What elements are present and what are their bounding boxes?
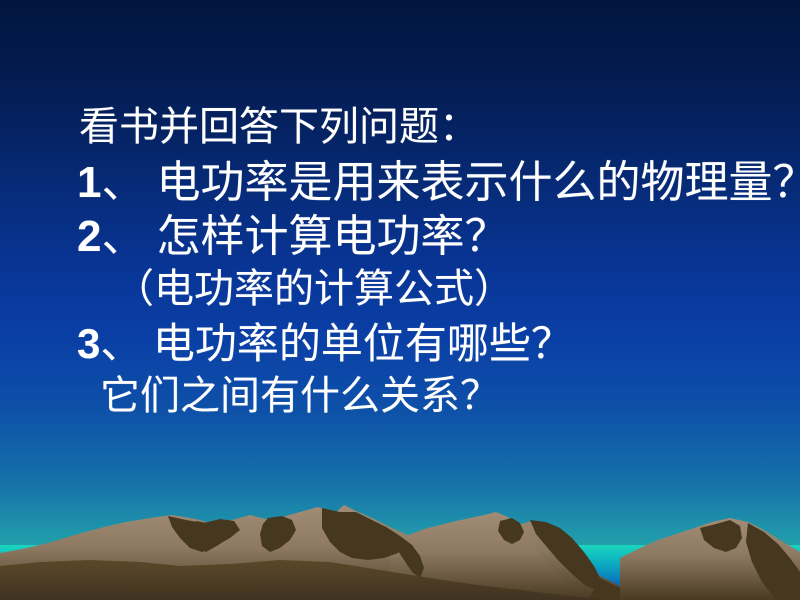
question-text-1: 、 电功率是用来表示什么的物理量？: [101, 158, 800, 207]
question-text-3: 、 电功率的单位有哪些？: [100, 322, 573, 368]
question-note-3: 它们之间有什么关系？: [100, 373, 500, 419]
question-text-2: 、 怎样计算电功率？: [101, 212, 508, 261]
question-number-2: 2: [77, 212, 101, 261]
question-line-2: 2、 怎样计算电功率？: [77, 212, 508, 262]
slide-canvas: 看书并回答下列问题： 1、 电功率是用来表示什么的物理量？ 2、 怎样计算电功率…: [0, 0, 800, 600]
question-number-3: 3: [77, 320, 100, 367]
question-number-1: 1: [77, 158, 101, 207]
question-note-2: （电功率的计算公式）: [114, 266, 514, 312]
question-line-1: 1、 电功率是用来表示什么的物理量？: [77, 158, 800, 208]
slide-header-line: 看书并回答下列问题：: [79, 104, 479, 150]
question-line-3: 3、 电功率的单位有哪些？: [77, 320, 573, 369]
